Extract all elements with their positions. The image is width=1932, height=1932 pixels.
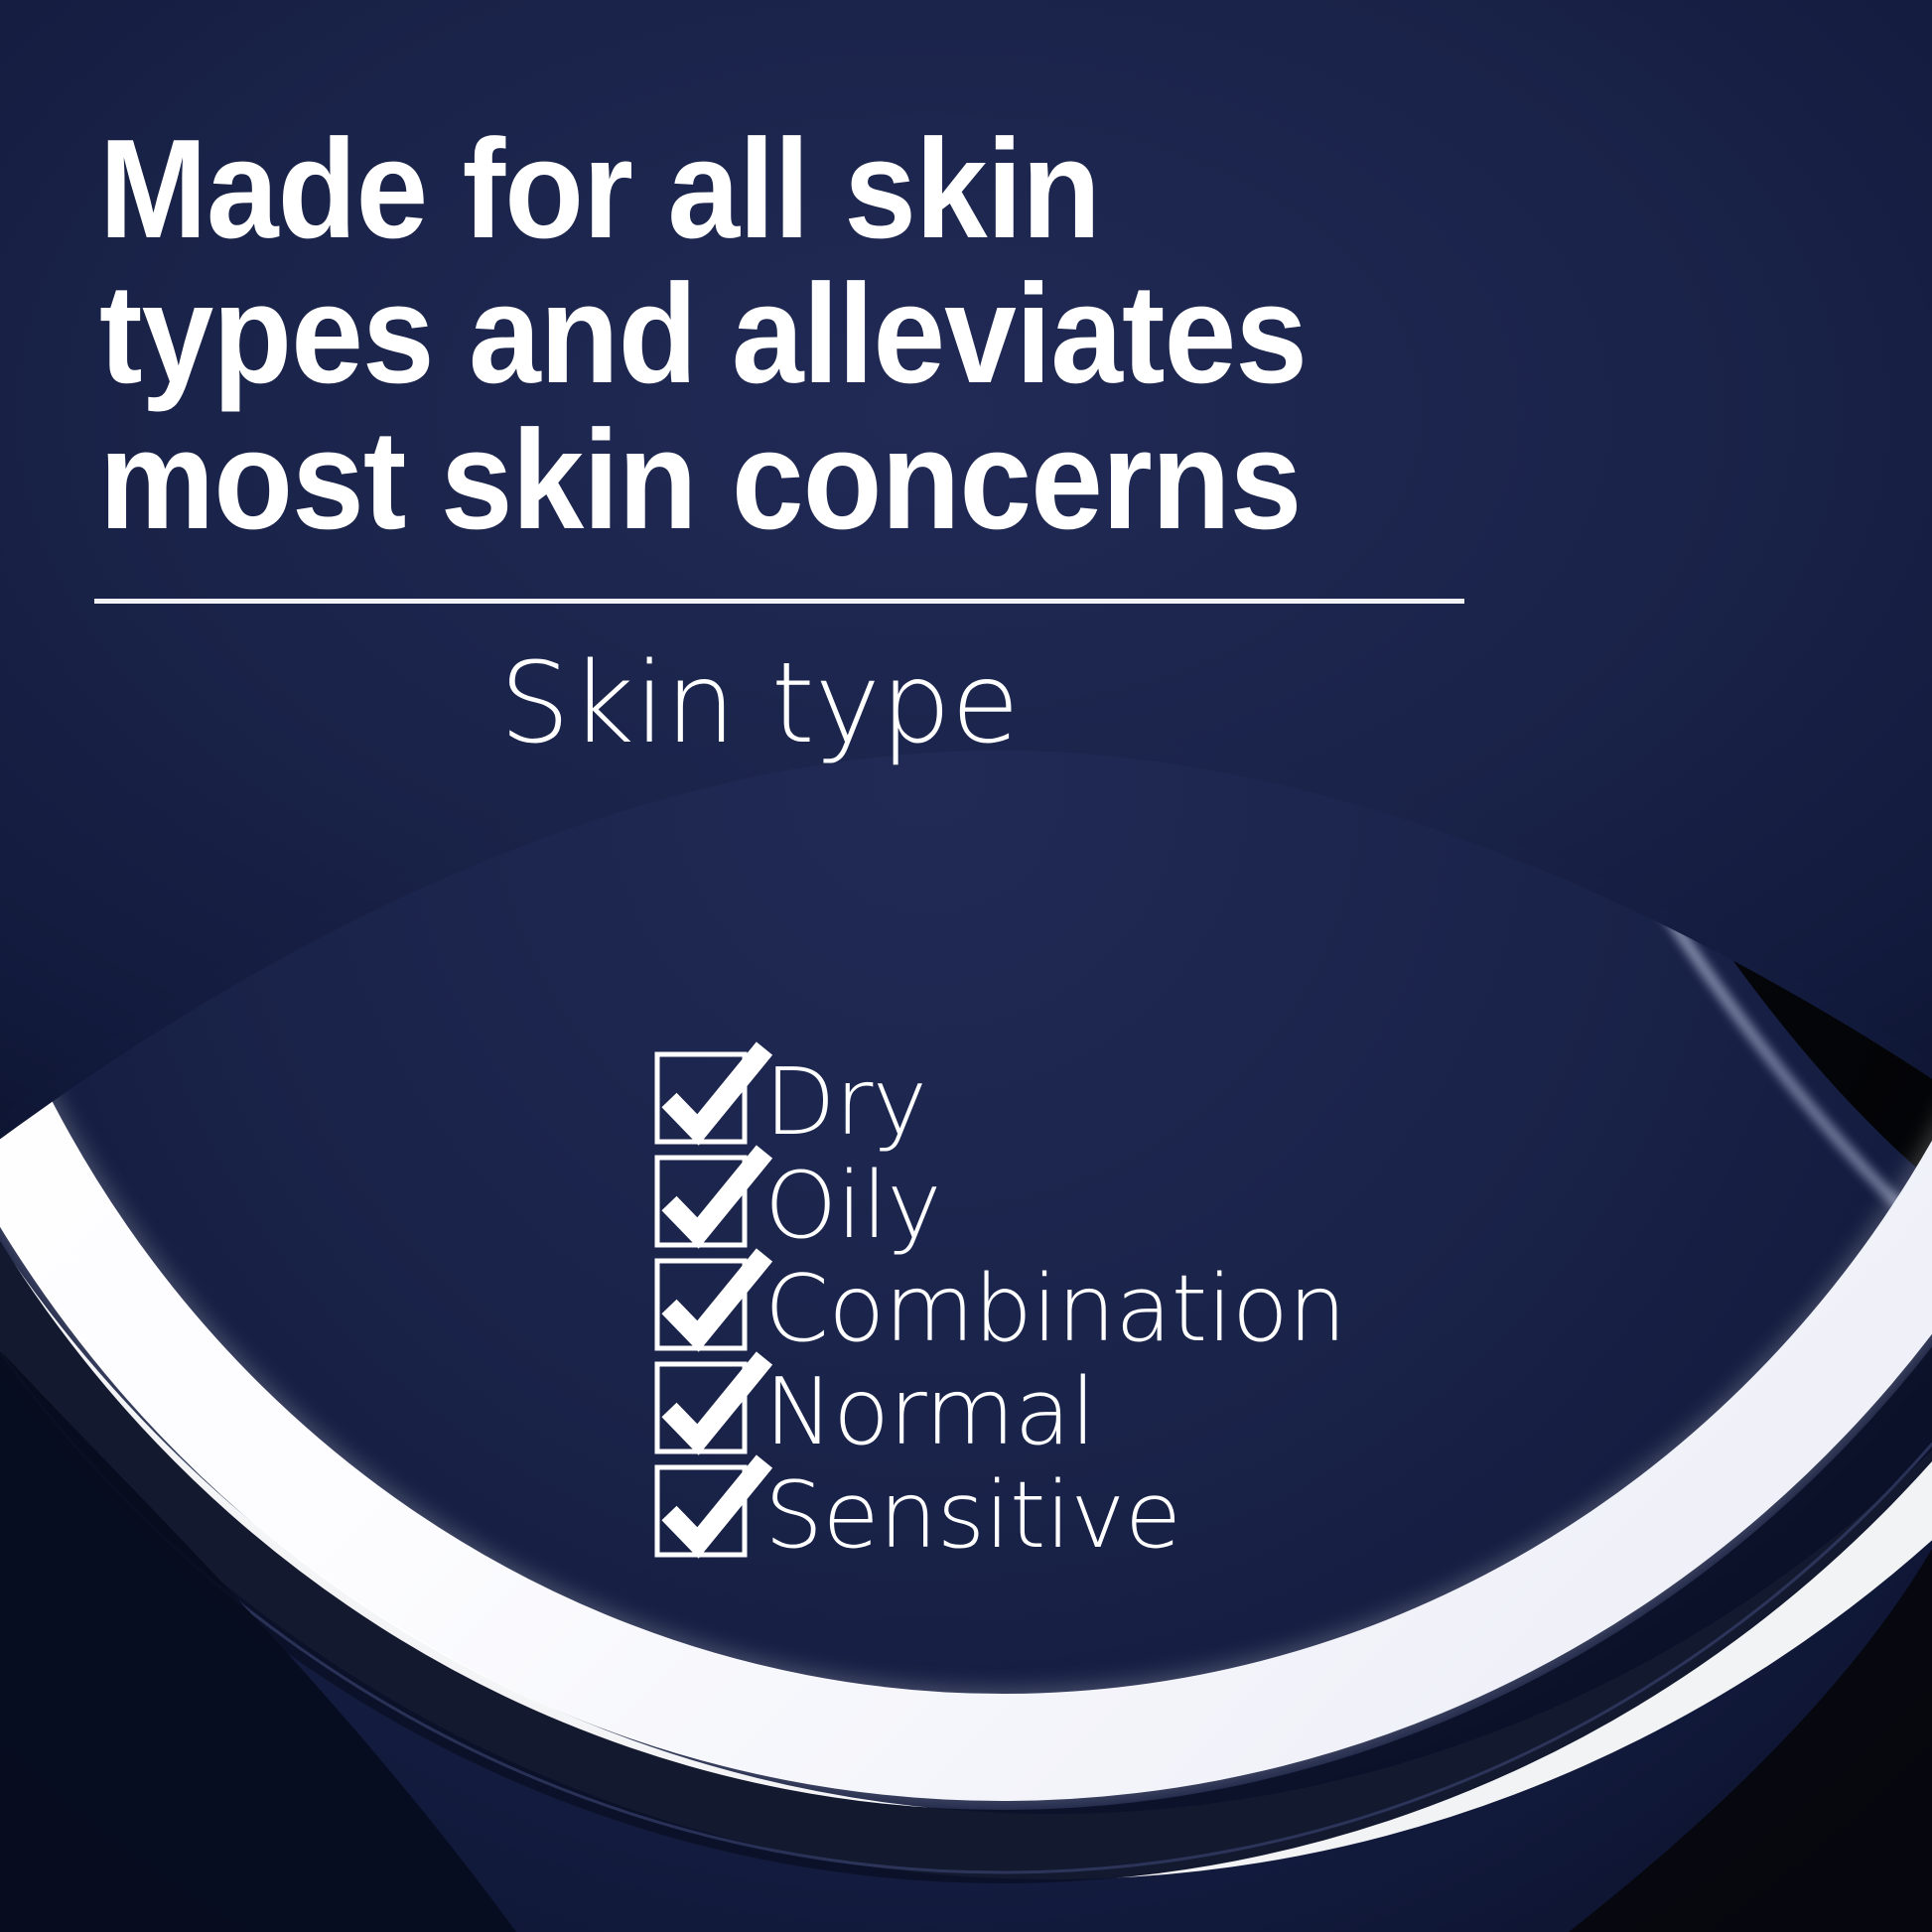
checklist-item-label: Normal [764,1366,1096,1458]
checkbox-checked-icon[interactable] [657,1257,753,1360]
checkbox-checked-icon[interactable] [657,1050,753,1154]
checkbox-checked-icon[interactable] [657,1463,753,1567]
section-heading-skin-type: Skin type [0,643,1519,765]
checklist-item[interactable]: Dry [657,1050,1346,1154]
checkbox-checked-icon[interactable] [657,1154,753,1257]
infographic-canvas: Made for all skin types and alleviates m… [0,0,1932,1932]
checklist-item-label: Oily [764,1160,941,1252]
page-title: Made for all skin types and alleviates m… [99,117,1314,553]
checkbox-checked-icon[interactable] [657,1360,753,1463]
checklist-item[interactable]: Combination [657,1257,1346,1360]
checklist-item-label: Sensitive [764,1469,1181,1562]
checklist-item[interactable]: Sensitive [657,1463,1346,1567]
checklist-item-label: Combination [764,1263,1346,1355]
horizontal-divider [94,599,1464,604]
checklist-item[interactable]: Oily [657,1154,1346,1257]
skin-type-checklist: Dry Oily Combination [657,1050,1346,1567]
checklist-item-label: Dry [764,1056,926,1149]
checklist-item[interactable]: Normal [657,1360,1346,1463]
